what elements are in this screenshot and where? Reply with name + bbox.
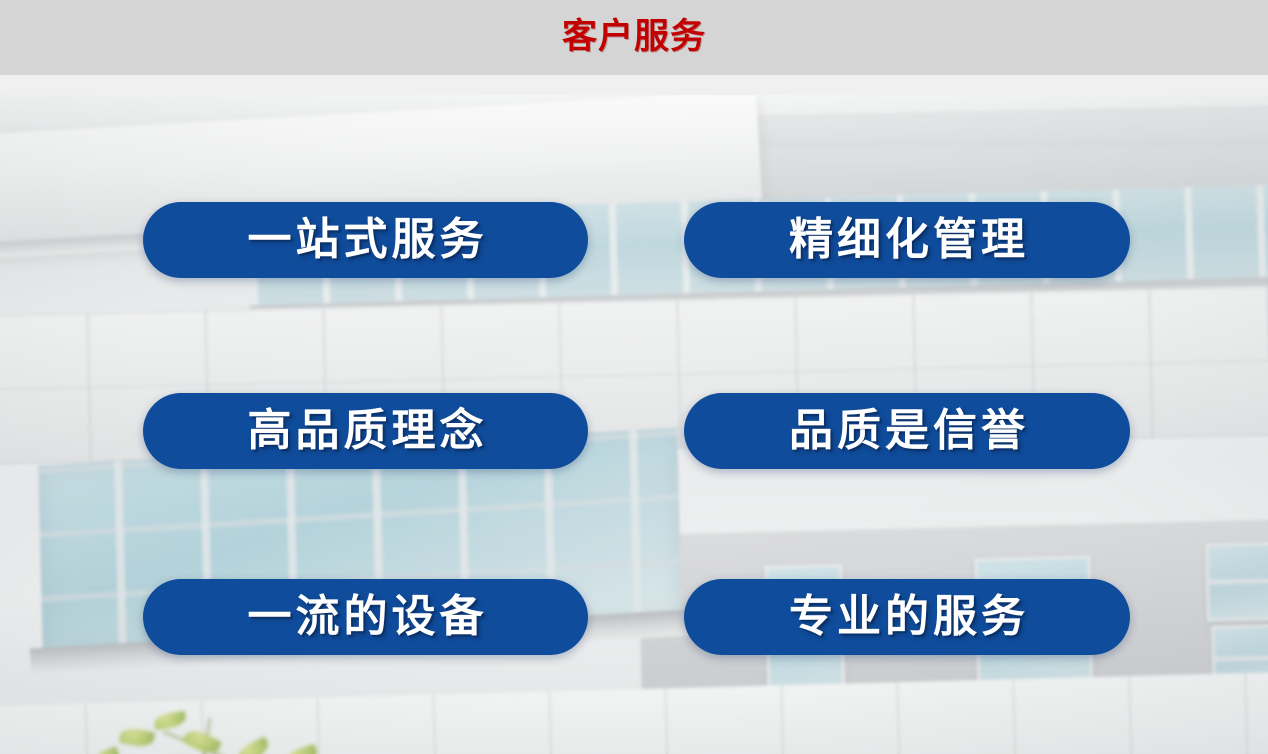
page-title: 客户服务: [562, 20, 706, 55]
header-divider-strip: [0, 75, 1268, 95]
feature-pill-one-stop-service[interactable]: 一站式服务: [143, 202, 588, 278]
feature-pill-label: 一站式服务: [244, 218, 488, 262]
window-opening: [1205, 542, 1268, 622]
customer-service-banner: 客户服务: [0, 0, 1268, 754]
feature-pill-label: 精细化管理: [785, 218, 1029, 262]
feature-pill-high-quality-concept[interactable]: 高品质理念: [143, 393, 588, 469]
tree-foliage: [50, 707, 410, 754]
feature-pill-quality-is-reputation[interactable]: 品质是信誉: [684, 393, 1130, 469]
feature-pill-label: 一流的设备: [244, 595, 488, 639]
feature-pill-label: 高品质理念: [244, 409, 488, 453]
feature-pill-label: 品质是信誉: [785, 409, 1029, 453]
feature-pill-refined-management[interactable]: 精细化管理: [684, 202, 1130, 278]
feature-pill-label: 专业的服务: [785, 595, 1029, 639]
feature-pill-first-class-equipment[interactable]: 一流的设备: [143, 579, 588, 655]
feature-pill-professional-service[interactable]: 专业的服务: [684, 579, 1130, 655]
header-bar: 客户服务: [0, 0, 1268, 75]
